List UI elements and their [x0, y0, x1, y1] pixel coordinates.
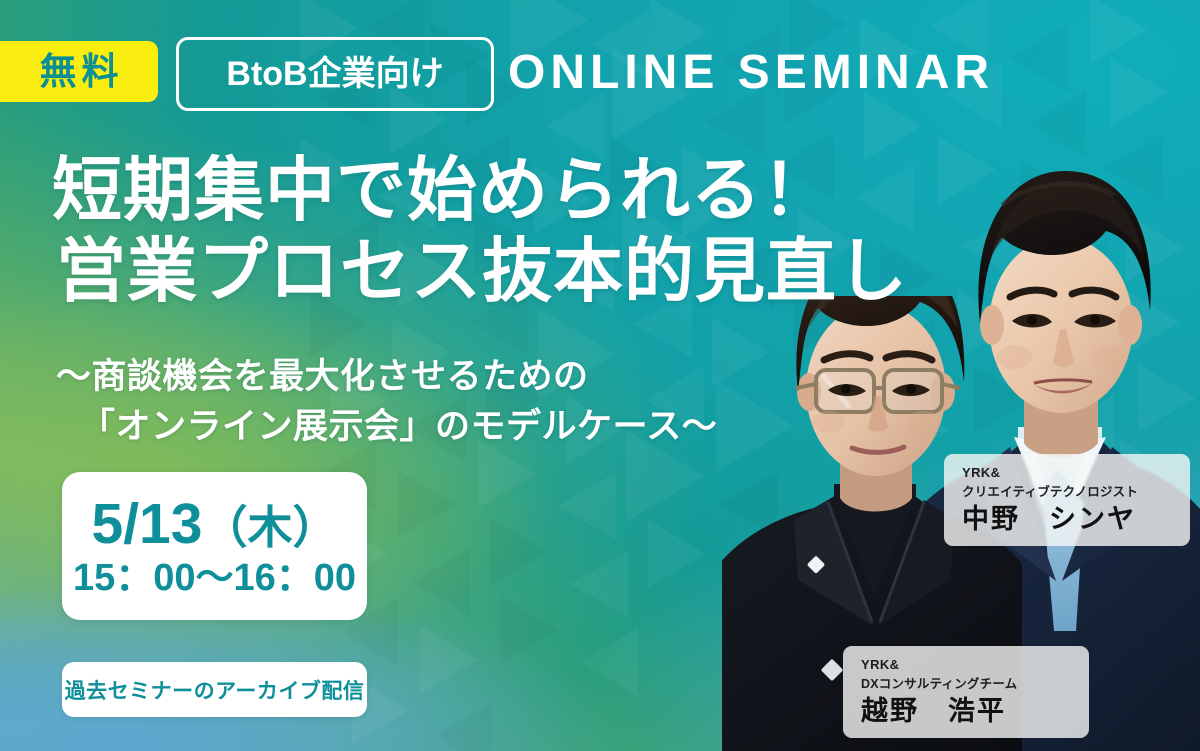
schedule-day-of-week: （木） [202, 502, 337, 553]
speaker-team-koshino: DXコンサルティングチーム [861, 675, 1073, 694]
free-badge-label: 無料 [35, 53, 124, 90]
schedule-card: 5/13（木） 15：00〜16：00 [62, 472, 367, 620]
speaker-name-koshino: 越野 浩平 [861, 696, 1073, 727]
page-subtitle-line-2: 「オンライン展示会」のモデルケース〜 [56, 402, 756, 452]
schedule-time: 15：00〜16：00 [73, 559, 356, 597]
free-badge: 無料 [0, 41, 158, 102]
audience-box-label: BtoB企業向け [226, 57, 443, 91]
page-title: 短期集中で始められる！ 営業プロセス抜本的見直し [52, 150, 892, 312]
seminar-banner: 無料 BtoB企業向け ONLINE SEMINAR 短期集中で始められる！ 営… [0, 0, 1200, 751]
page-subtitle-line-1: 〜商談機会を最大化させるための [56, 352, 756, 402]
page-title-line-2: 営業プロセス抜本的見直し [52, 231, 892, 312]
speaker-org-nakano: YRK& [962, 463, 1174, 483]
schedule-date: 5/13 [92, 492, 203, 556]
speaker-name-nakano: 中野 シンヤ [962, 504, 1174, 535]
speaker-org-koshino: YRK& [861, 655, 1073, 675]
archive-badge-label: 過去セミナーのアーカイブ配信 [65, 675, 365, 705]
page-title-line-1: 短期集中で始められる！ [52, 150, 892, 231]
audience-box: BtoB企業向け [176, 37, 494, 111]
event-type-label: ONLINE SEMINAR [508, 44, 994, 102]
speaker-nameplate-koshino: YRK& DXコンサルティングチーム 越野 浩平 [843, 646, 1089, 738]
archive-badge: 過去セミナーのアーカイブ配信 [62, 662, 367, 717]
speaker-team-nakano: クリエイティブテクノロジスト [962, 483, 1174, 502]
page-subtitle: 〜商談機会を最大化させるための 「オンライン展示会」のモデルケース〜 [56, 352, 756, 451]
speaker-nameplate-nakano: YRK& クリエイティブテクノロジスト 中野 シンヤ [944, 454, 1190, 546]
schedule-date-row: 5/13（木） [92, 496, 338, 553]
